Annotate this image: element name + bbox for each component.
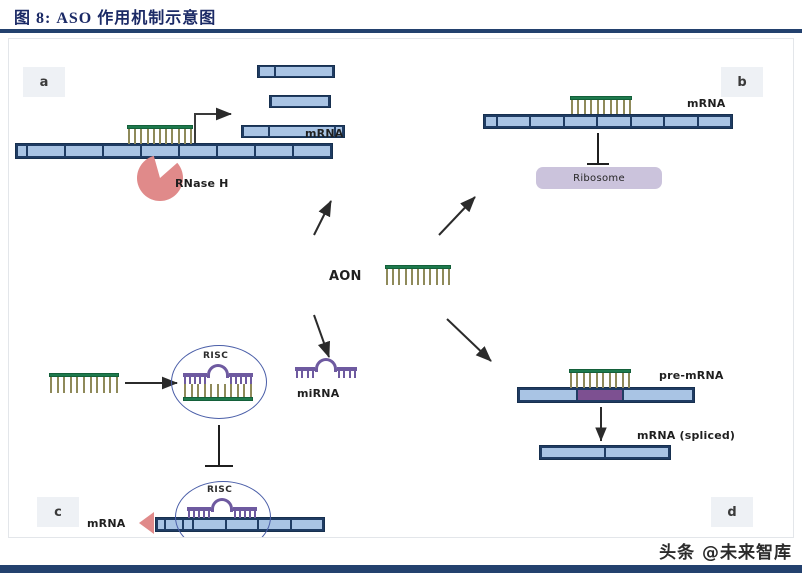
- risc-label-bottom: RISC: [207, 485, 232, 495]
- mrna-label-c: mRNA: [87, 517, 125, 530]
- aso-in-risc-top: [183, 384, 253, 401]
- figure-page: 图 8: ASO 作用机制示意图: [0, 0, 802, 573]
- mirna-strand-top: [183, 373, 253, 384]
- translation-inhibition-marker: [587, 133, 609, 165]
- aso-oligo-c: [49, 373, 119, 393]
- mrna-arrowhead-c: [139, 512, 154, 534]
- panel-badge-a: a: [23, 67, 65, 97]
- panel-badge-b: b: [721, 67, 763, 97]
- spliced-mrna-strand: [539, 445, 671, 460]
- diagram-canvas: a mRNA RNase H b: [8, 38, 794, 538]
- mirna-free: [295, 367, 357, 378]
- mirna-label: miRNA: [297, 387, 339, 400]
- aon-oligo-center: [385, 265, 451, 285]
- pre-mrna-label: pre-mRNA: [659, 369, 724, 382]
- mirna-inhibition-marker: [205, 425, 233, 467]
- page-title: 图 8: ASO 作用机制示意图: [14, 4, 216, 28]
- pre-mrna-strand: [517, 387, 695, 403]
- panel-badge-c: c: [37, 497, 79, 527]
- aso-oligo-b: [570, 96, 632, 114]
- aon-label: AON: [329, 269, 362, 284]
- ribosome-box: Ribosome: [536, 167, 662, 189]
- mrna-label-a: mRNA: [305, 127, 343, 140]
- title-divider: [0, 29, 802, 33]
- rnase-h-label: RNase H: [175, 177, 229, 190]
- watermark: 头条 @未来智库: [659, 538, 792, 563]
- aso-oligo-d: [569, 369, 631, 388]
- bottom-divider: [0, 565, 802, 573]
- mrna-strand-a: [15, 143, 333, 159]
- figure-title-bar: 图 8: ASO 作用机制示意图: [0, 0, 802, 34]
- mrna-fragment-1: [257, 65, 335, 78]
- risc-label-top: RISC: [203, 351, 228, 361]
- aso-oligo-a: [127, 125, 193, 144]
- panel-badge-d: d: [711, 497, 753, 527]
- mirna-strand-bottom: [187, 507, 257, 518]
- spliced-mrna-label: mRNA (spliced): [637, 429, 735, 442]
- mrna-label-b: mRNA: [687, 97, 725, 110]
- mrna-strand-b: [483, 114, 733, 129]
- mrna-fragment-2: [269, 95, 331, 108]
